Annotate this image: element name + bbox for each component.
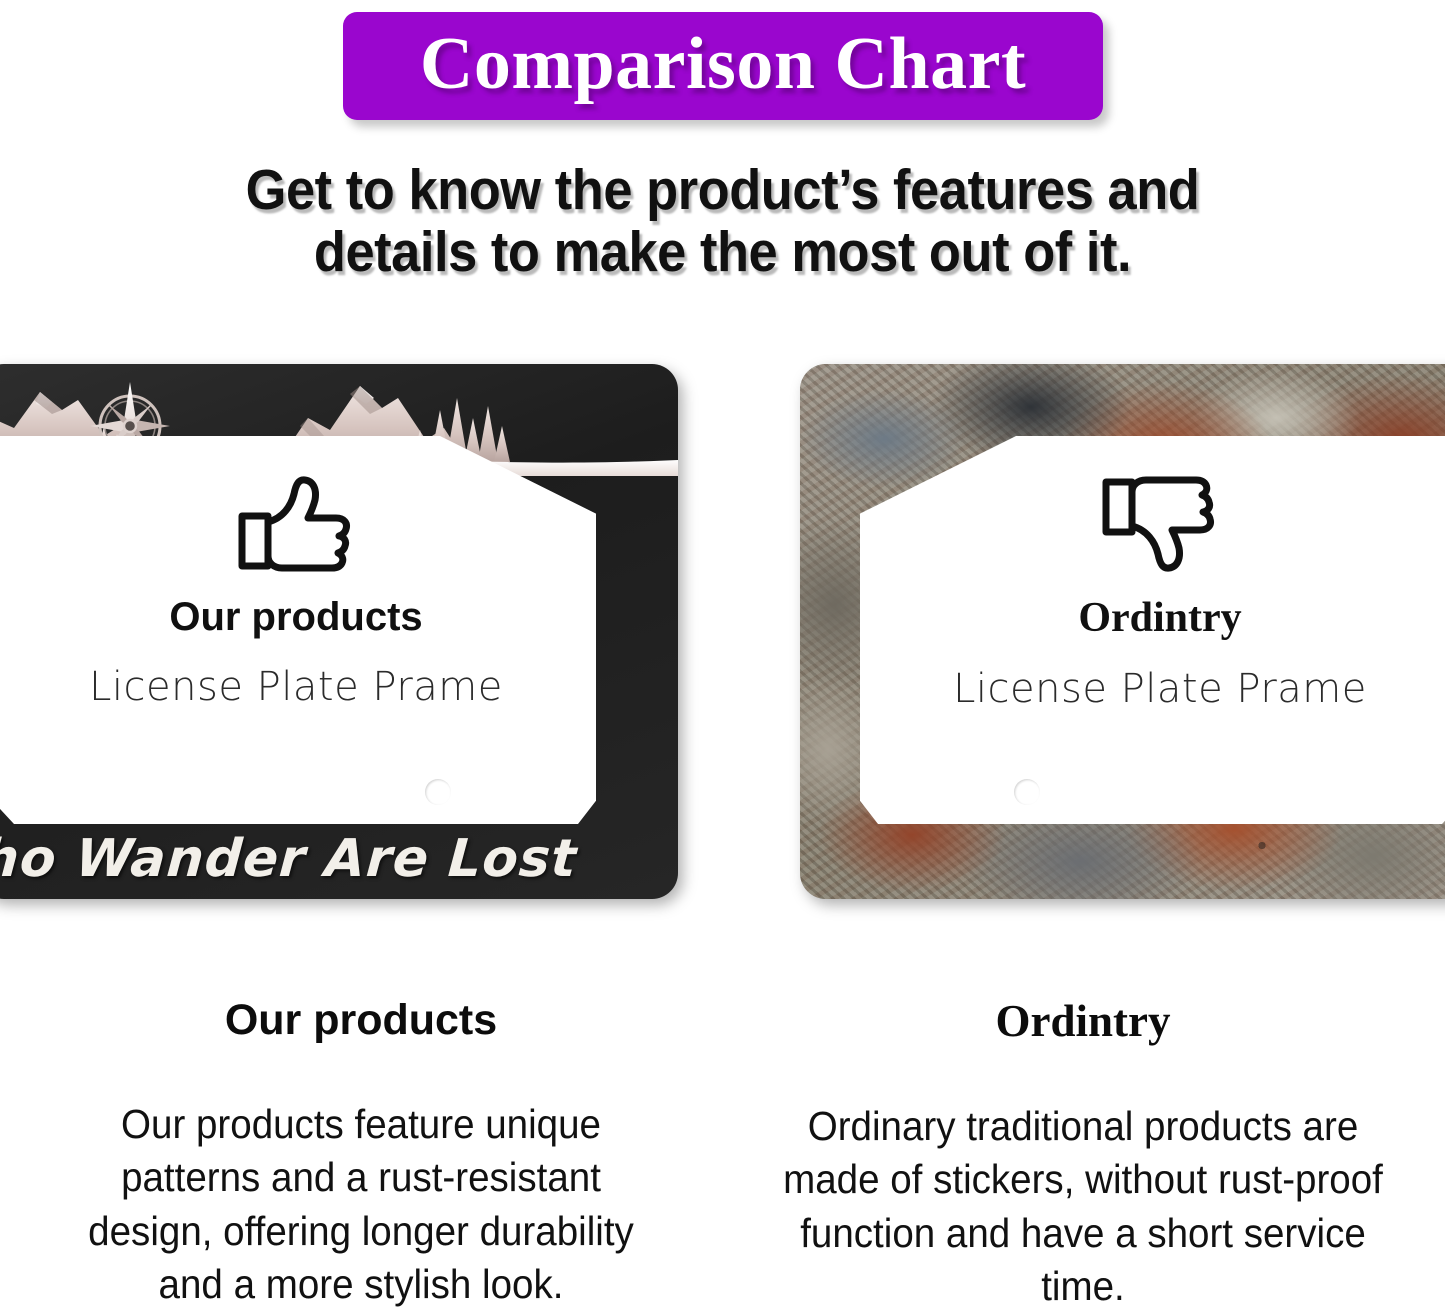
ordinary-window-sub-label: License Plate Prame — [953, 669, 1367, 709]
thumbs-up-icon — [237, 474, 355, 579]
ordinary-product-plate-frame: Ordintry License Plate Prame — [800, 364, 1445, 899]
our-products-column: Our products Our products feature unique… — [0, 985, 722, 1314]
comparison-columns: Our products Our products feature unique… — [0, 985, 1445, 1314]
our-products-description: Our products feature unique patterns and… — [54, 1098, 669, 1311]
screw-hole — [1014, 779, 1040, 805]
ordinary-window-content: Ordintry License Plate Prame — [860, 474, 1445, 709]
our-window-sub-label: License Plate Prame — [89, 667, 503, 707]
ordinary-heading: Ordintry — [756, 999, 1410, 1044]
subtitle-line-1: Get to know the product’s features and — [58, 160, 1387, 222]
plate-slogan-text: ho Wander Are Lost — [0, 829, 644, 889]
ordinary-window-brand-label: Ordintry — [1078, 597, 1241, 639]
banner-background: Comparison Chart — [343, 12, 1103, 120]
ordinary-description: Ordinary traditional products are made o… — [776, 1100, 1391, 1313]
ordinary-column: Ordintry Ordinary traditional products a… — [722, 985, 1444, 1314]
our-product-plate-frame: ho Wander Are Lost Our products License … — [0, 364, 678, 899]
thumbs-down-icon — [1101, 474, 1219, 579]
our-window-content: Our products License Plate Prame — [0, 474, 596, 707]
subtitle: Get to know the product’s features and d… — [58, 160, 1387, 283]
product-frames-row: ho Wander Are Lost Our products License … — [0, 352, 1445, 922]
our-window-brand-label: Our products — [169, 597, 422, 637]
title-banner: Comparison Chart — [343, 12, 1103, 120]
page-title: Comparison Chart — [420, 27, 1026, 105]
our-products-heading: Our products — [34, 999, 688, 1042]
subtitle-line-2: details to make the most out of it. — [58, 222, 1387, 284]
screw-hole — [425, 779, 451, 805]
